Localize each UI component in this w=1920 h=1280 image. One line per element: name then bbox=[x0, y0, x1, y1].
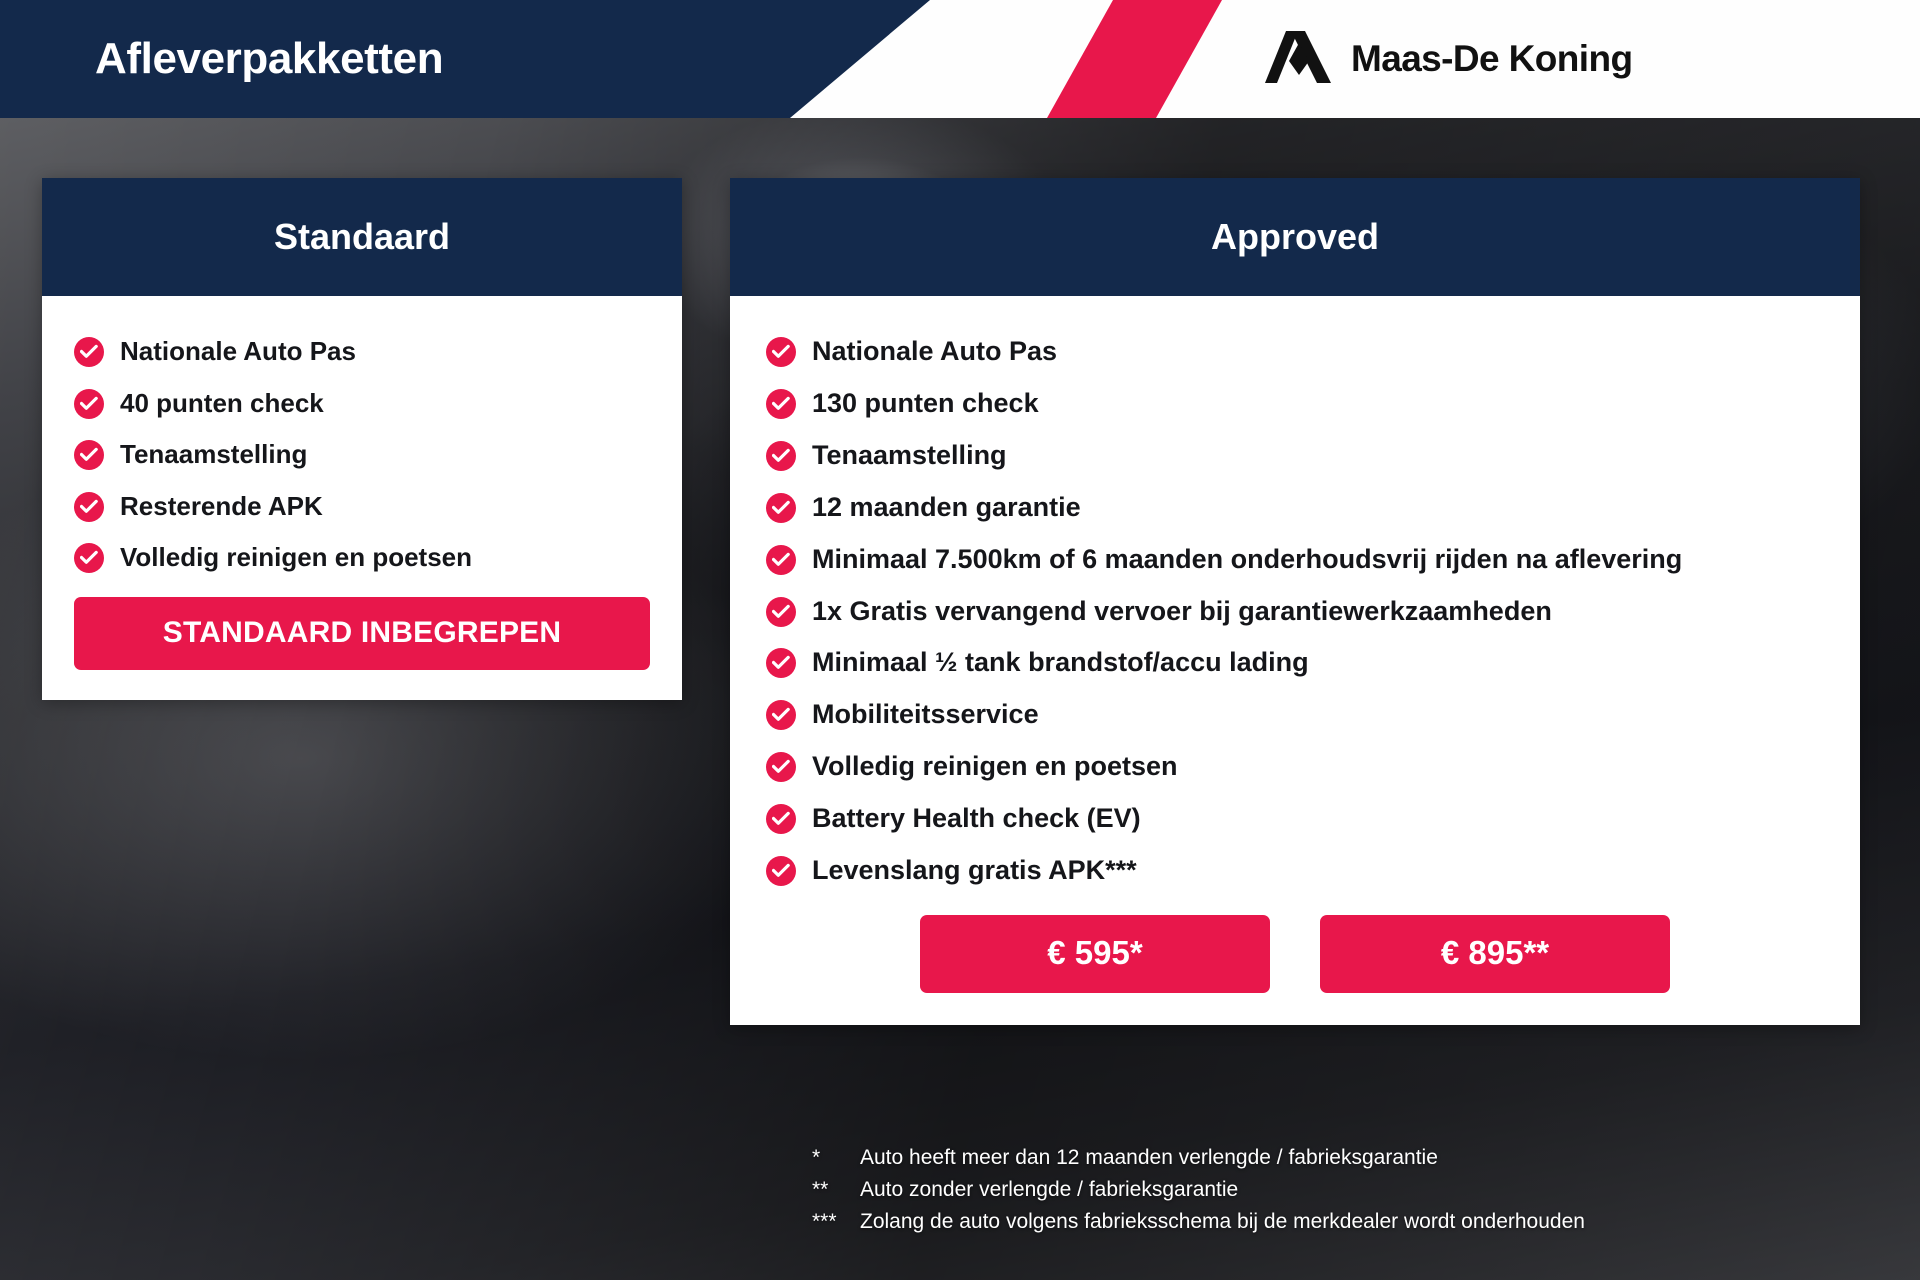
feature-label: Mobiliteitsservice bbox=[812, 697, 1039, 733]
feature-label: Nationale Auto Pas bbox=[812, 334, 1057, 370]
feature-label: Battery Health check (EV) bbox=[812, 801, 1141, 837]
check-circle-icon bbox=[766, 545, 796, 575]
card-title-standaard: Standaard bbox=[42, 178, 682, 296]
footnote-row: **Auto zonder verlengde / fabrieksgarant… bbox=[812, 1174, 1585, 1206]
check-circle-icon bbox=[766, 700, 796, 730]
feature-item: 1x Gratis vervangend vervoer bij garanti… bbox=[766, 594, 1824, 630]
check-circle-icon bbox=[74, 492, 104, 522]
feature-item: Volledig reinigen en poetsen bbox=[74, 540, 650, 575]
page-header: Afleverpakketten Maas-De Koning bbox=[0, 0, 1920, 118]
footnote-text: Auto zonder verlengde / fabrieksgarantie bbox=[860, 1174, 1238, 1206]
footnote-row: ***Zolang de auto volgens fabrieksschema… bbox=[812, 1206, 1585, 1238]
check-circle-icon bbox=[766, 648, 796, 678]
check-circle-icon bbox=[74, 389, 104, 419]
feature-item: 40 punten check bbox=[74, 386, 650, 421]
brand-lockup: Maas-De Koning bbox=[1265, 0, 1632, 118]
feature-item: Nationale Auto Pas bbox=[74, 334, 650, 369]
feature-label: 12 maanden garantie bbox=[812, 490, 1081, 526]
footnote-text: Auto heeft meer dan 12 maanden verlengde… bbox=[860, 1142, 1438, 1174]
feature-item: Tenaamstelling bbox=[74, 437, 650, 472]
price-button[interactable]: € 595* bbox=[920, 915, 1270, 993]
feature-item: 130 punten check bbox=[766, 386, 1824, 422]
footnote-marker: * bbox=[812, 1142, 860, 1174]
footnote-row: *Auto heeft meer dan 12 maanden verlengd… bbox=[812, 1142, 1585, 1174]
card-body-approved: Nationale Auto Pas130 punten checkTenaam… bbox=[730, 296, 1860, 1025]
feature-label: 1x Gratis vervangend vervoer bij garanti… bbox=[812, 594, 1552, 630]
check-circle-icon bbox=[74, 337, 104, 367]
feature-list-standaard: Nationale Auto Pas40 punten checkTenaams… bbox=[74, 334, 650, 575]
check-circle-icon bbox=[74, 543, 104, 573]
feature-label: Volledig reinigen en poetsen bbox=[812, 749, 1178, 785]
package-card-standaard: Standaard Nationale Auto Pas40 punten ch… bbox=[42, 178, 682, 700]
footnote-text: Zolang de auto volgens fabrieksschema bi… bbox=[860, 1206, 1585, 1238]
card-body-standaard: Nationale Auto Pas40 punten checkTenaams… bbox=[42, 296, 682, 700]
standaard-included-badge[interactable]: STANDAARD INBEGREPEN bbox=[74, 597, 650, 670]
check-circle-icon bbox=[74, 440, 104, 470]
package-card-approved: Approved Nationale Auto Pas130 punten ch… bbox=[730, 178, 1860, 1025]
feature-label: Resterende APK bbox=[120, 489, 323, 524]
feature-label: Tenaamstelling bbox=[812, 438, 1007, 474]
footnote-marker: *** bbox=[812, 1206, 860, 1238]
feature-label: Levenslang gratis APK*** bbox=[812, 853, 1137, 889]
page-title: Afleverpakketten bbox=[95, 0, 443, 118]
feature-item: Levenslang gratis APK*** bbox=[766, 853, 1824, 889]
feature-label: Minimaal ½ tank brandstof/accu lading bbox=[812, 645, 1309, 681]
feature-item: Nationale Auto Pas bbox=[766, 334, 1824, 370]
feature-label: Tenaamstelling bbox=[120, 437, 307, 472]
feature-item: 12 maanden garantie bbox=[766, 490, 1824, 526]
feature-item: Volledig reinigen en poetsen bbox=[766, 749, 1824, 785]
check-circle-icon bbox=[766, 752, 796, 782]
footnotes: *Auto heeft meer dan 12 maanden verlengd… bbox=[812, 1142, 1585, 1238]
feature-item: Minimaal 7.500km of 6 maanden onderhouds… bbox=[766, 542, 1824, 578]
feature-item: Mobiliteitsservice bbox=[766, 697, 1824, 733]
check-circle-icon bbox=[766, 389, 796, 419]
maas-de-koning-m-logo-icon bbox=[1265, 31, 1331, 88]
feature-list-approved: Nationale Auto Pas130 punten checkTenaam… bbox=[766, 334, 1824, 889]
check-circle-icon bbox=[766, 493, 796, 523]
feature-item: Minimaal ½ tank brandstof/accu lading bbox=[766, 645, 1824, 681]
check-circle-icon bbox=[766, 856, 796, 886]
feature-item: Battery Health check (EV) bbox=[766, 801, 1824, 837]
check-circle-icon bbox=[766, 804, 796, 834]
card-title-approved: Approved bbox=[730, 178, 1860, 296]
feature-label: Minimaal 7.500km of 6 maanden onderhouds… bbox=[812, 542, 1682, 578]
check-circle-icon bbox=[766, 597, 796, 627]
check-circle-icon bbox=[766, 441, 796, 471]
footnote-marker: ** bbox=[812, 1174, 860, 1206]
feature-label: 130 punten check bbox=[812, 386, 1039, 422]
feature-item: Resterende APK bbox=[74, 489, 650, 524]
price-button[interactable]: € 895** bbox=[1320, 915, 1670, 993]
brand-name: Maas-De Koning bbox=[1351, 38, 1632, 80]
feature-label: 40 punten check bbox=[120, 386, 324, 421]
feature-label: Volledig reinigen en poetsen bbox=[120, 540, 472, 575]
feature-item: Tenaamstelling bbox=[766, 438, 1824, 474]
price-button-row: € 595*€ 895** bbox=[766, 915, 1824, 999]
poster-root: Afleverpakketten Maas-De Koning Standaar… bbox=[0, 0, 1920, 1280]
feature-label: Nationale Auto Pas bbox=[120, 334, 356, 369]
check-circle-icon bbox=[766, 337, 796, 367]
